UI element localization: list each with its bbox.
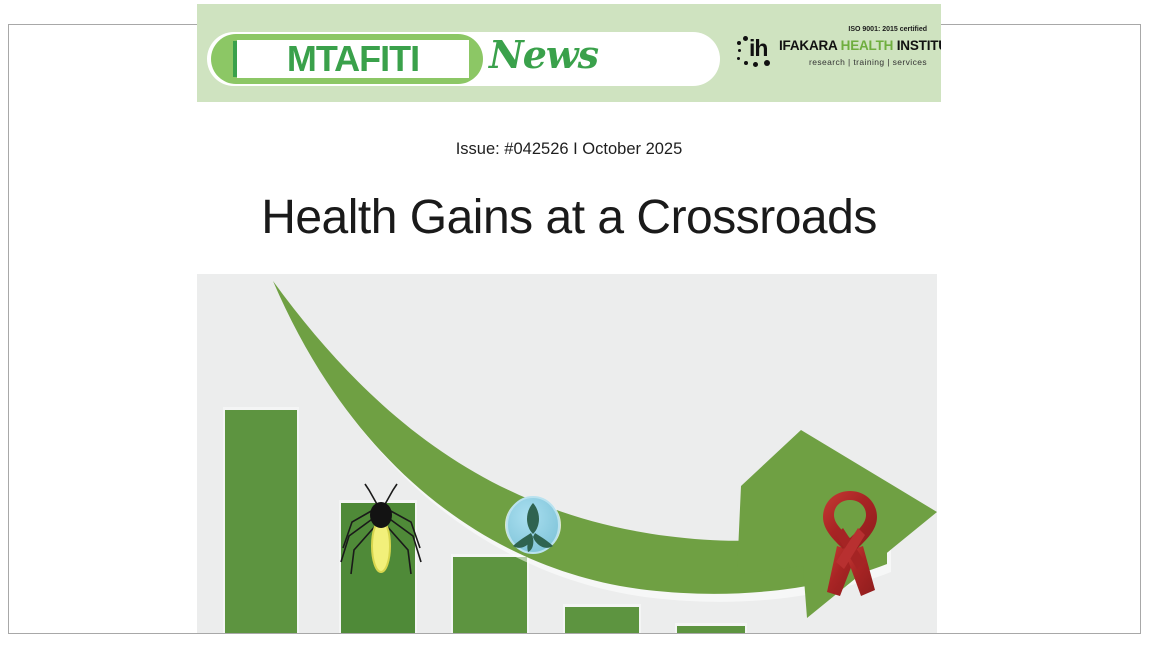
monogram-dot — [764, 60, 770, 66]
page-title-text: Health Gains at a Crossroads — [261, 190, 877, 245]
monogram-dot — [737, 57, 740, 60]
institute-name-health: HEALTH — [841, 38, 894, 53]
page-title: Health Gains at a Crossroads — [0, 190, 1150, 245]
hero-illustration — [197, 274, 937, 633]
monogram-dot — [753, 62, 758, 67]
monogram-dot — [744, 61, 748, 65]
issue-line: Issue: #042526 I October 2025 — [0, 140, 1150, 159]
institute-tagline: research | training | services — [809, 57, 927, 67]
ihi-monogram-letters: ih — [749, 37, 767, 60]
monogram-dot — [743, 36, 748, 41]
institute-name-part2: INSTITUTE — [893, 38, 941, 53]
masthead-banner: MTAFITI News ISO 9001: 2015 certified ih… — [197, 4, 941, 102]
iso-certification-label: ISO 9001: 2015 certified — [848, 26, 927, 33]
monogram-dot — [738, 49, 741, 52]
bar-5 — [677, 626, 745, 633]
issue-line-text: Issue: #042526 I October 2025 — [456, 140, 683, 159]
bar-1 — [225, 410, 297, 633]
ihi-monogram-icon: ih — [737, 37, 777, 67]
ifakara-health-institute-logo: ISO 9001: 2015 certified ih IFAKARA HEAL… — [733, 26, 929, 74]
hero-graphic — [197, 274, 937, 633]
mtafiti-logo: MTAFITI — [211, 34, 483, 84]
institute-name: IFAKARA HEALTH INSTITUTE — [779, 38, 941, 53]
logo-news-script: News — [489, 32, 598, 77]
bar-4 — [565, 607, 639, 633]
bar-3 — [453, 557, 527, 633]
institute-name-part1: IFAKARA — [779, 38, 841, 53]
parasite-icon — [505, 497, 561, 553]
monogram-dot — [737, 41, 741, 45]
logo-wordmark: MTAFITI — [237, 40, 469, 78]
